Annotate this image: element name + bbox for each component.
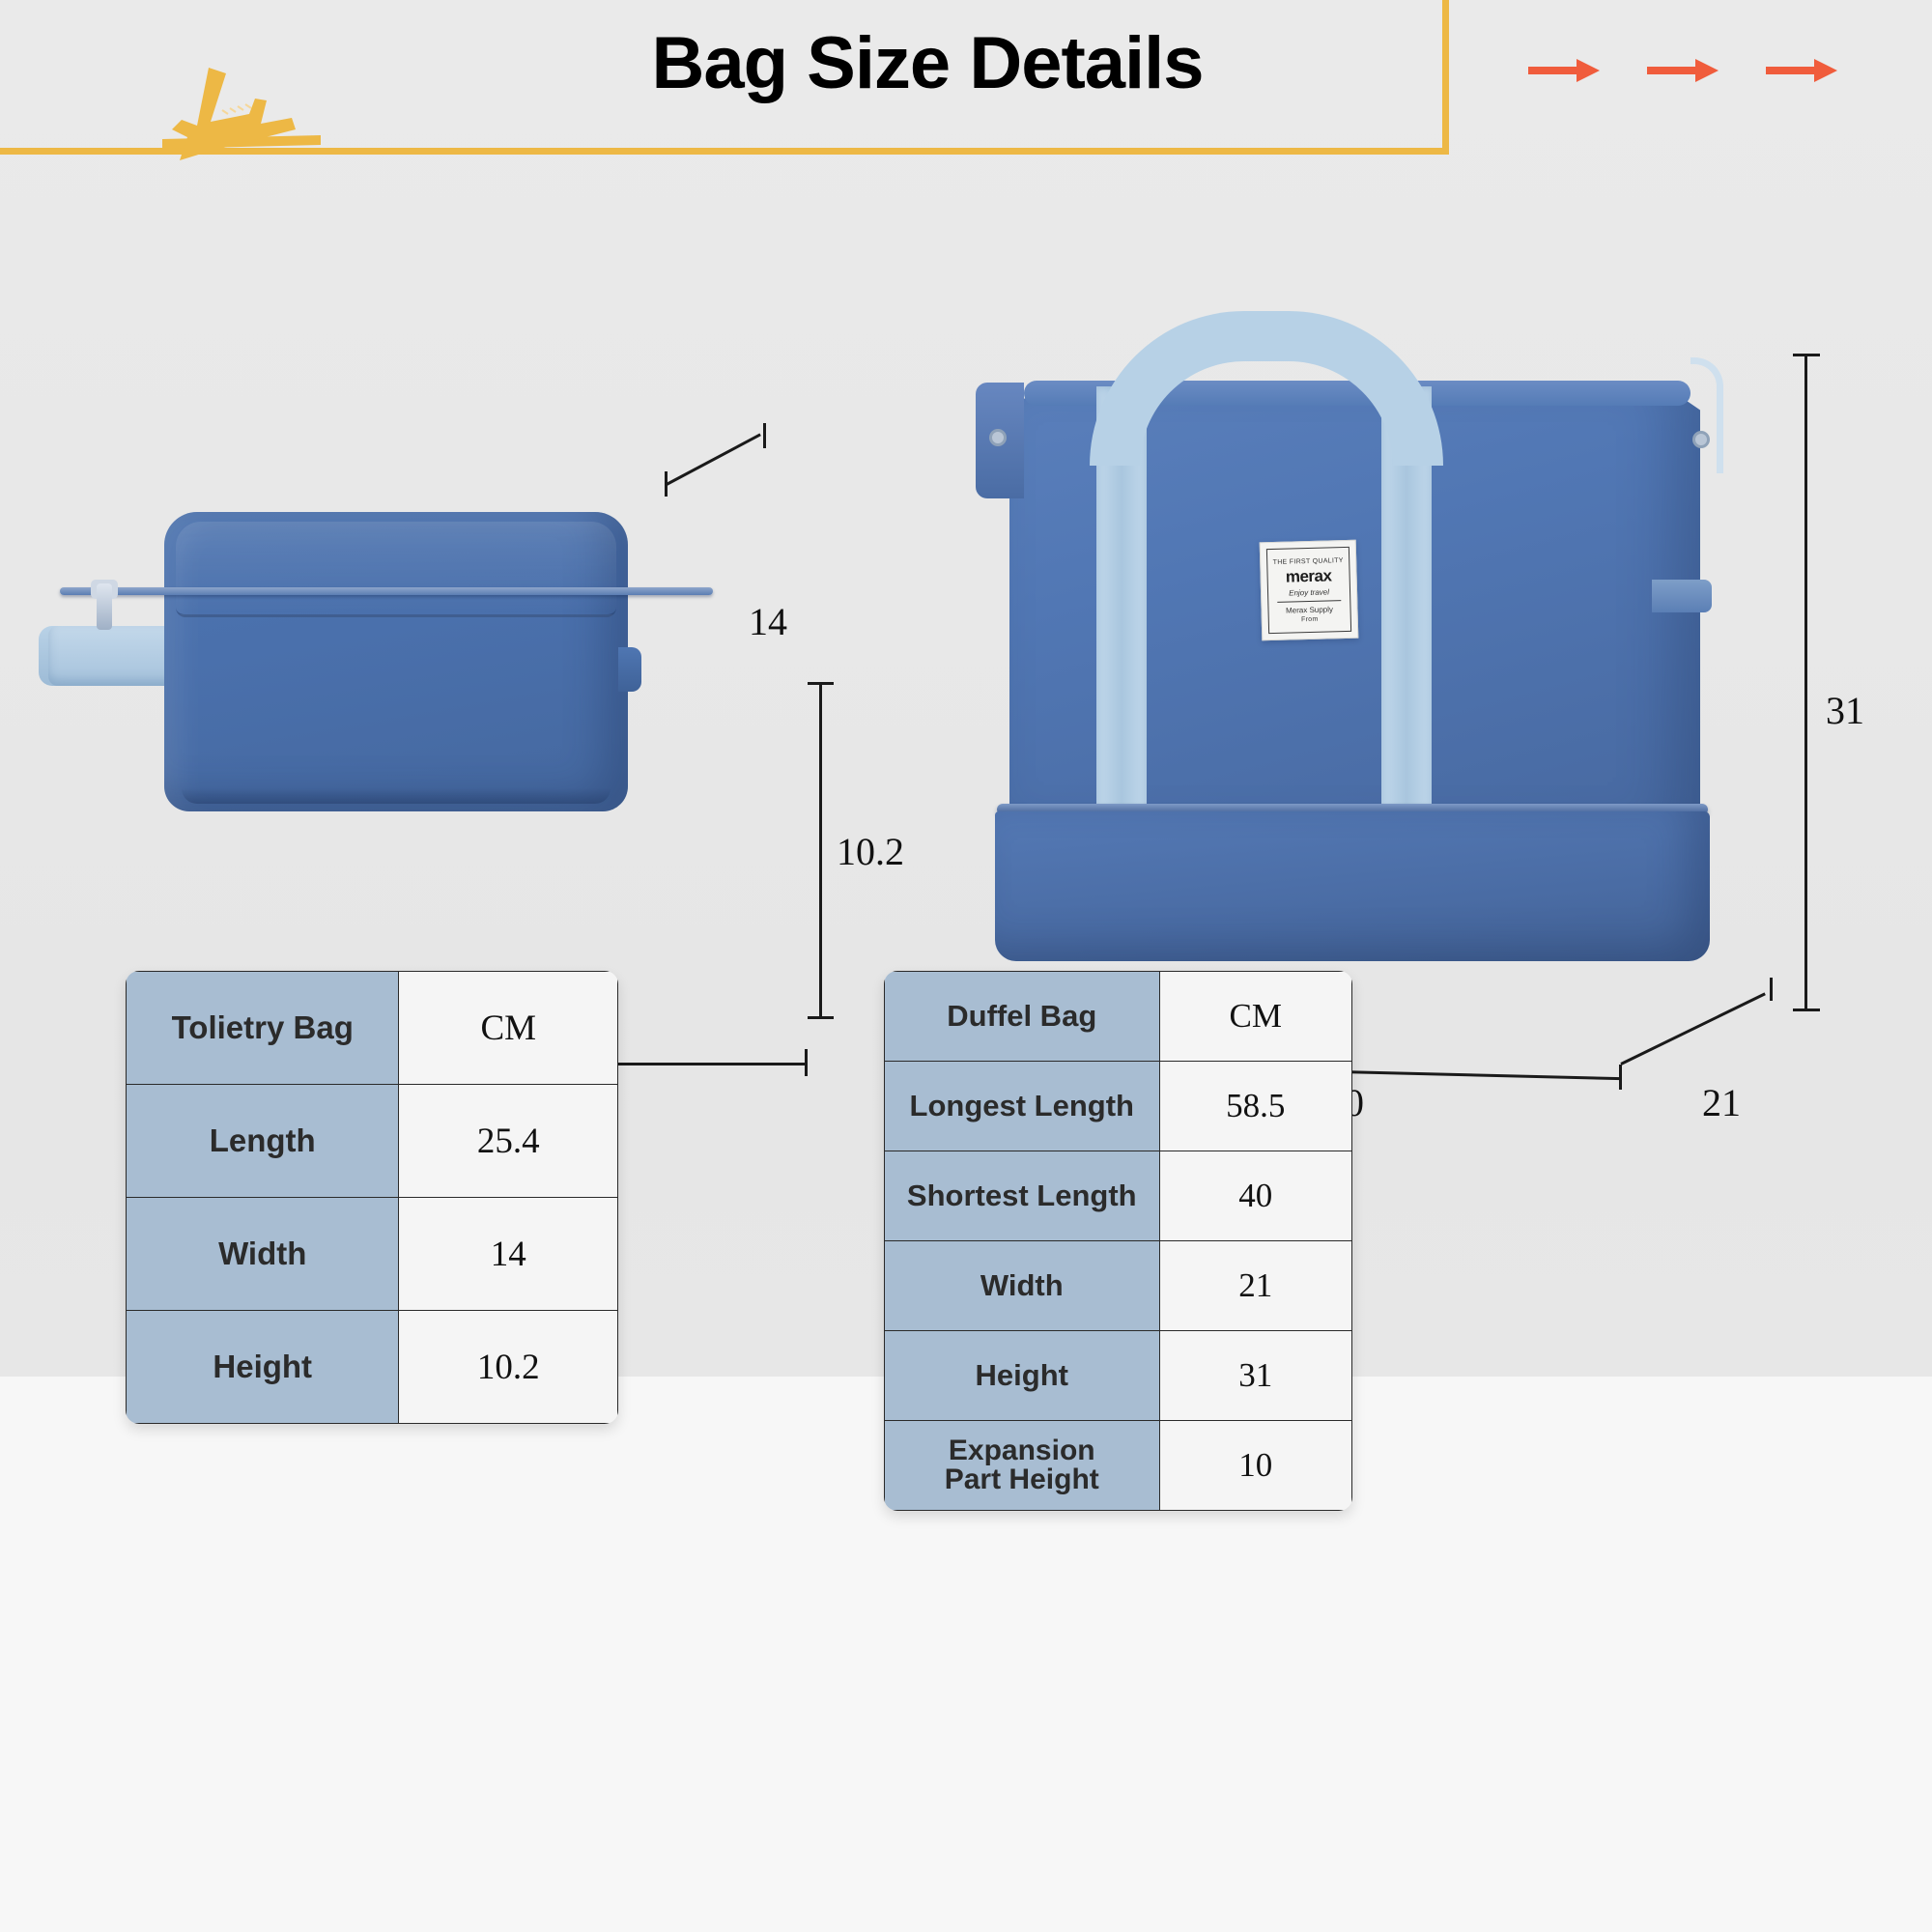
duffel-row-longest-length-value: 58.5 (1159, 1062, 1351, 1151)
page-title: Bag Size Details (541, 21, 1314, 105)
brand-label-top-text: THE FIRST QUALITY (1273, 557, 1344, 566)
toiletry-top-panel (176, 522, 616, 617)
toiletry-row-length-value: 25.4 (399, 1085, 618, 1198)
toiletry-table-header-unit: CM (399, 972, 618, 1085)
brand-label-footer: From (1301, 615, 1319, 622)
duffel-depth-tick-right (1770, 978, 1773, 1001)
duffel-row-height-value: 31 (1159, 1331, 1351, 1421)
toiletry-length-tick-right (805, 1049, 808, 1076)
duffel-height-value: 31 (1826, 688, 1864, 733)
table-row: Expansion Part Height 10 (885, 1421, 1352, 1511)
toiletry-width-tick-right (763, 423, 766, 448)
table-row: Height 10.2 (127, 1311, 618, 1424)
toiletry-height-dim-line (819, 682, 822, 1018)
duffel-length-tick-right (1619, 1065, 1622, 1090)
toiletry-width-tick-left (665, 471, 668, 497)
brand-label-tagline: Enjoy travel (1289, 587, 1329, 597)
duffel-handle-arch (1090, 311, 1443, 466)
duffel-grommet-right (1692, 431, 1710, 448)
duffel-row-shortest-length-label: Shortest Length (885, 1151, 1160, 1241)
arrow-right-icon (1526, 44, 1602, 97)
brand-label-name: merax (1286, 566, 1332, 586)
duffel-brand-label: THE FIRST QUALITY merax Enjoy travel Mer… (1260, 540, 1359, 641)
toiletry-width-value: 14 (749, 599, 787, 644)
toiletry-height-value: 10.2 (837, 829, 904, 874)
duffel-depth-value: 21 (1702, 1080, 1741, 1125)
duffel-table-header-unit: CM (1159, 972, 1351, 1062)
toiletry-height-tick-top (808, 682, 834, 685)
toiletry-row-width-value: 14 (399, 1198, 618, 1311)
duffel-bag-illustration: THE FIRST QUALITY merax Enjoy travel Mer… (976, 357, 1806, 1053)
duffel-expansion-label-line2: Part Height (885, 1465, 1159, 1494)
duffel-row-shortest-length-value: 40 (1159, 1151, 1351, 1241)
toiletry-bottom-seam (182, 788, 611, 804)
table-row: Duffel Bag CM (885, 972, 1352, 1062)
duffel-height-tick-bottom (1793, 1009, 1820, 1011)
brand-label-divider (1277, 600, 1341, 603)
duffel-table-header-name: Duffel Bag (885, 972, 1160, 1062)
toiletry-height-tick-bottom (808, 1016, 834, 1019)
table-row: Tolietry Bag CM (127, 972, 618, 1085)
toiletry-row-height-value: 10.2 (399, 1311, 618, 1424)
table-row: Length 25.4 (127, 1085, 618, 1198)
arrow-right-icon (1645, 44, 1720, 97)
duffel-row-expansion-label: Expansion Part Height (885, 1421, 1160, 1511)
duffel-specs-table: Duffel Bag CM Longest Length 58.5 Shorte… (884, 971, 1352, 1511)
toiletry-row-height-label: Height (127, 1311, 399, 1424)
duffel-row-width-label: Width (885, 1241, 1160, 1331)
duffel-row-height-label: Height (885, 1331, 1160, 1421)
duffel-expansion-section (995, 811, 1710, 961)
toiletry-row-length-label: Length (127, 1085, 399, 1198)
duffel-row-width-value: 21 (1159, 1241, 1351, 1331)
toiletry-specs-table: Tolietry Bag CM Length 25.4 Width 14 Hei… (126, 971, 618, 1424)
toiletry-row-width-label: Width (127, 1198, 399, 1311)
duffel-height-tick-top (1793, 354, 1820, 356)
duffel-right-side-tab (1652, 580, 1712, 612)
toiletry-zipper-pull (97, 583, 112, 630)
duffel-expansion-label-line1: Expansion (885, 1436, 1159, 1465)
arrow-right-icon (1764, 44, 1839, 97)
toiletry-width-dim-line (666, 434, 761, 486)
table-row: Shortest Length 40 (885, 1151, 1352, 1241)
duffel-row-expansion-value: 10 (1159, 1421, 1351, 1511)
toiletry-bag-illustration (39, 483, 734, 889)
brand-label-supply: Merax Supply (1286, 605, 1333, 614)
toiletry-table-header-name: Tolietry Bag (127, 972, 399, 1085)
infographic-page: Bag Size Details (0, 0, 1932, 1932)
duffel-height-dim-line (1804, 354, 1807, 1010)
toiletry-zipper (60, 587, 713, 595)
airplane-icon (155, 60, 328, 166)
toiletry-bag-body (164, 512, 628, 811)
table-row: Longest Length 58.5 (885, 1062, 1352, 1151)
duffel-grommet-left (989, 429, 1007, 446)
table-row: Width 14 (127, 1198, 618, 1311)
toiletry-side-tab (618, 647, 641, 692)
table-row: Width 21 (885, 1241, 1352, 1331)
duffel-row-longest-length-label: Longest Length (885, 1062, 1160, 1151)
arrow-group (1526, 37, 1913, 104)
toiletry-handle-strap (48, 626, 179, 686)
table-row: Height 31 (885, 1331, 1352, 1421)
brand-label-inner: THE FIRST QUALITY merax Enjoy travel Mer… (1266, 547, 1351, 634)
